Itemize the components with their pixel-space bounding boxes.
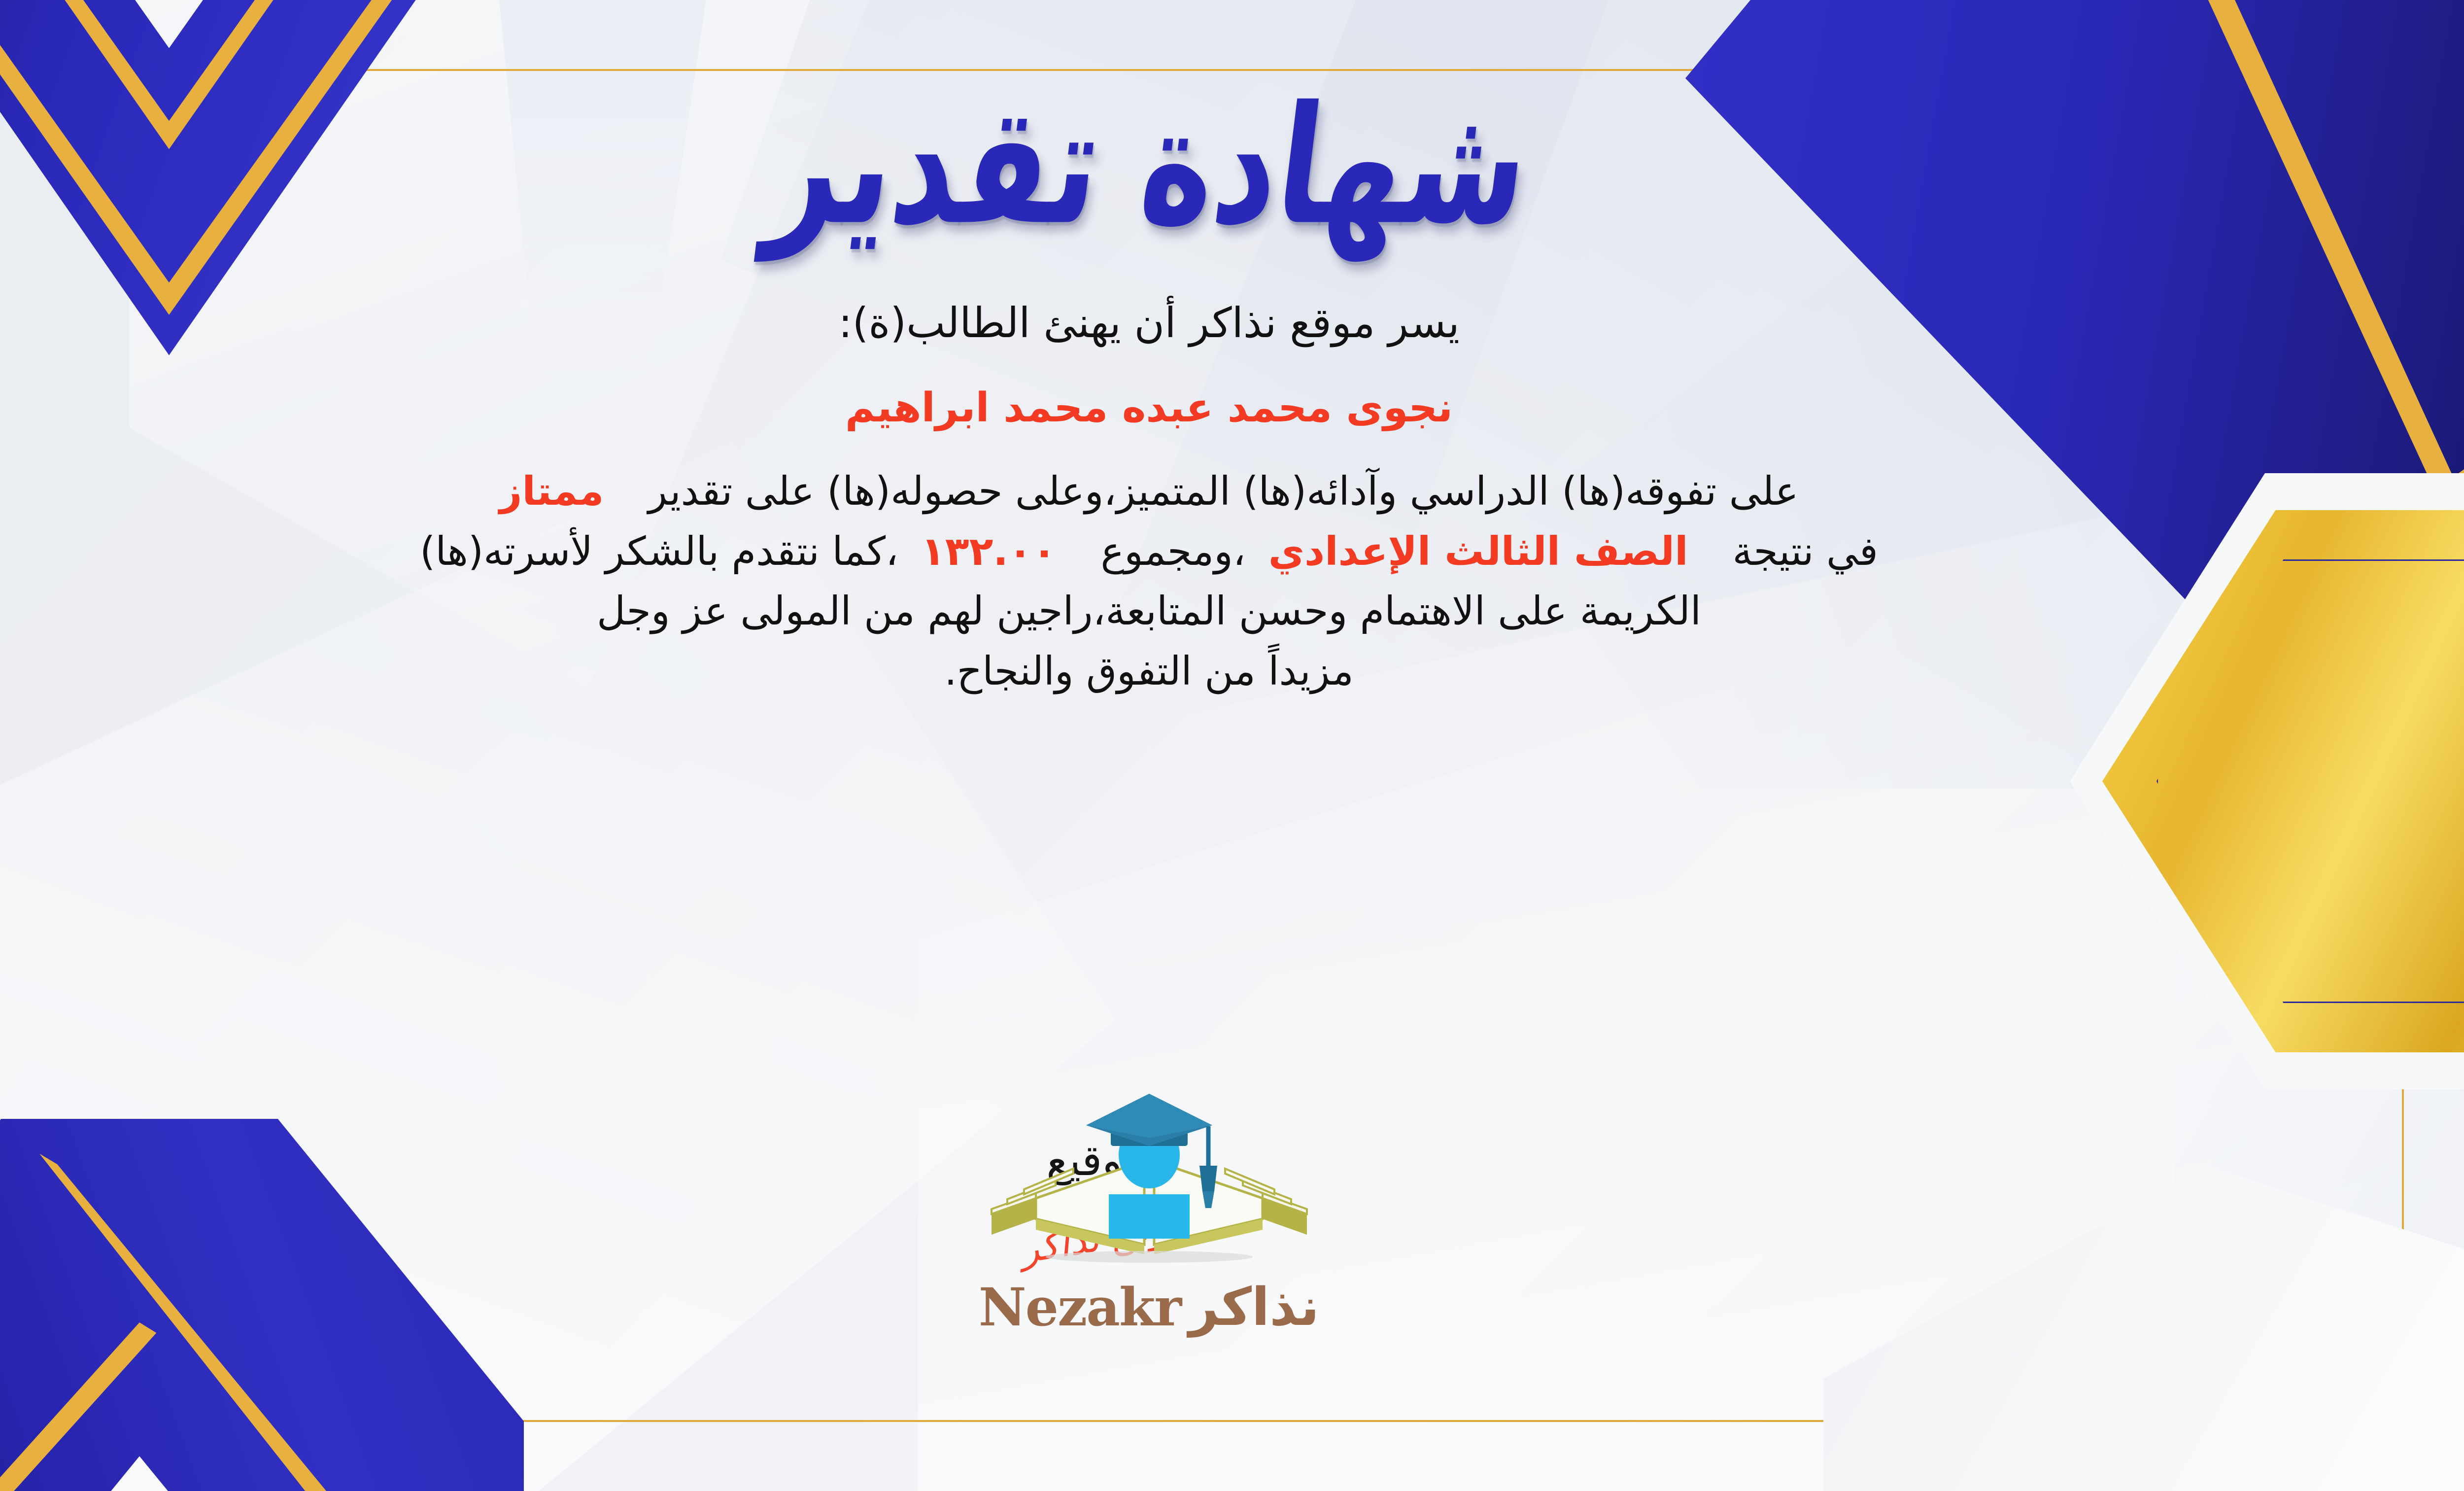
book-shadow (1046, 1251, 1253, 1263)
tassel-knot (1199, 1166, 1217, 1191)
total-score-value: ١٣٢.٠٠ (921, 528, 1057, 574)
achievement-text-a: على تفوقه(ها) الدراسي وآدائه(ها) المتميز… (648, 468, 1798, 514)
logo-text-arabic: نذاكر (1189, 1277, 1319, 1337)
intro-line: يسر موقع نذاكر أن يهنئ الطالب(ة): (188, 292, 2110, 355)
logo-wordmark: نذاكر Nezakr (972, 1276, 1327, 1338)
achievement-paragraph: على تفوقه(ها) الدراسي وآدائه(ها) المتميز… (188, 461, 2110, 701)
student-name: نجوى محمد عبده محمد ابراهيم (188, 378, 2110, 439)
certificate-page: شهادة تقدير يسر موقع نذاكر أن يهنئ الطال… (0, 0, 2464, 1491)
total-prefix: ،ومجموع (1100, 528, 1245, 574)
achievement-line-4: مزيداً من التفوق والنجاح. (188, 641, 2110, 701)
result-prefix: في نتيجة (1733, 528, 1878, 574)
thanks-text: ،كما نتقدم بالشكر لأسرته(ها) (420, 528, 898, 574)
grade-value: ممتاز (499, 468, 604, 514)
brand-logo: نذاكر Nezakr (972, 1087, 1327, 1338)
logo-text-english: Nezakr (979, 1276, 1181, 1338)
page-title: شهادة تقدير (760, 78, 1538, 254)
logo-graphic (977, 1087, 1322, 1279)
achievement-line-3: الكريمة على الاهتمام وحسن المتابعة،راجين… (188, 581, 2110, 641)
certificate-body: يسر موقع نذاكر أن يهنئ الطالب(ة): نجوى م… (188, 292, 2110, 701)
graduate-book-icon (977, 1087, 1322, 1279)
certificate-content: شهادة تقدير يسر موقع نذاكر أن يهنئ الطال… (0, 74, 2385, 1417)
class-value: الصف الثالث الإعدادي (1268, 528, 1688, 574)
certificate-footer: التوقيع موقع نذاكر (0, 1087, 2385, 1402)
achievement-line-2: في نتيجةالصف الثالث الإعدادي،ومجموع١٣٢.٠… (188, 521, 2110, 582)
achievement-line-1: على تفوقه(ها) الدراسي وآدائه(ها) المتميز… (188, 461, 2110, 521)
